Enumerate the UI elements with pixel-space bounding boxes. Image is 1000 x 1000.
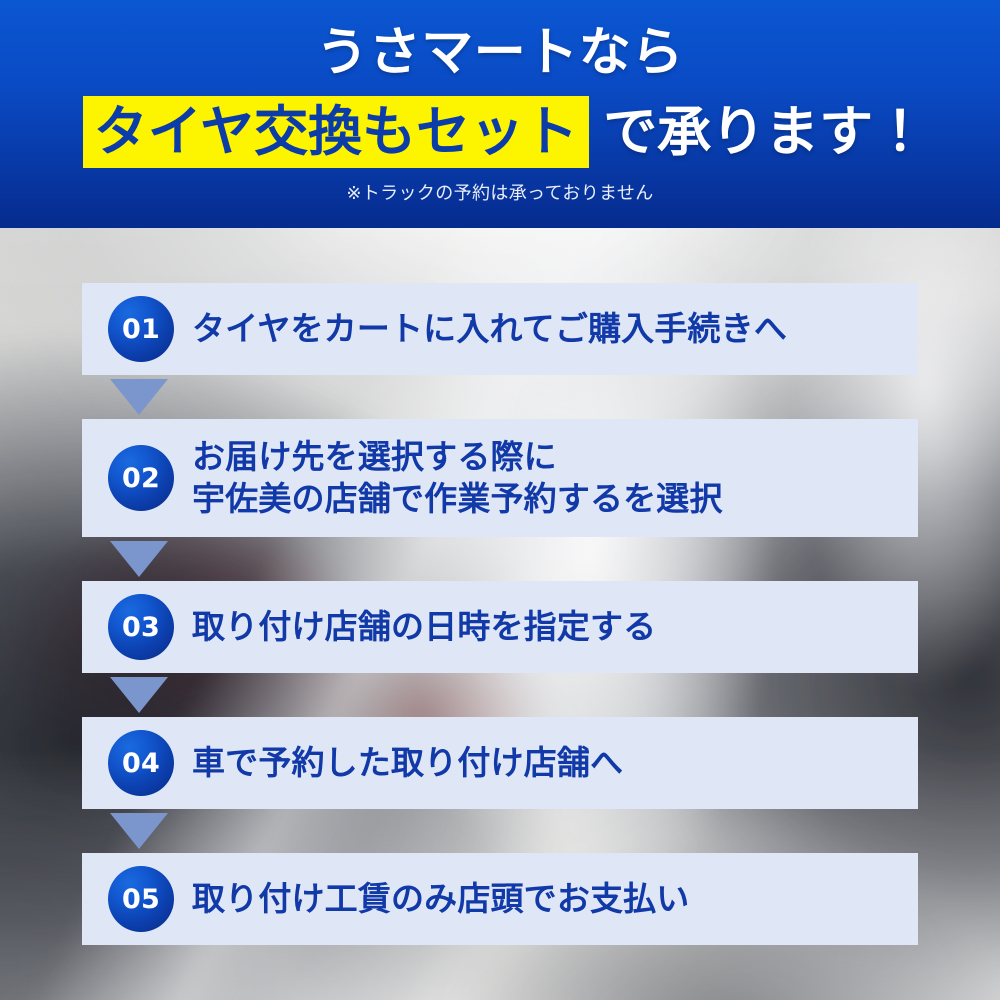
- step-number-badge: 01: [108, 296, 174, 362]
- step-card: 05取り付け工賃のみ店頭でお支払い: [82, 853, 918, 945]
- step-card: 03取り付け店舗の日時を指定する: [82, 581, 918, 673]
- step-connector-arrow: [82, 537, 918, 581]
- step-list: 01タイヤをカートに入れてご購入手続きへ02お届け先を選択する際に宇佐美の店舗で…: [82, 283, 918, 945]
- step-number-badge: 05: [108, 866, 174, 932]
- chevron-down-icon: [110, 379, 168, 415]
- headline-highlight-text: タイヤ交換もセット: [83, 96, 589, 168]
- step-connector-arrow: [82, 375, 918, 419]
- header-banner: うさマートなら タイヤ交換もセット で承ります！ ※トラックの予約は承っておりま…: [0, 0, 1000, 228]
- step-card: 02お届け先を選択する際に宇佐美の店舗で作業予約するを選択: [82, 419, 918, 537]
- step-label-line: 宇佐美の店舗で作業予約するを選択: [192, 478, 723, 520]
- header-disclaimer-note: ※トラックの予約は承っておりません: [0, 182, 1000, 206]
- headline-secondary: タイヤ交換もセット で承ります！: [0, 96, 1000, 168]
- chevron-down-icon: [110, 813, 168, 849]
- step-label: 取り付け工賃のみ店頭でお支払い: [192, 878, 709, 920]
- step-number-badge: 04: [108, 730, 174, 796]
- step-label: 車で予約した取り付け店舗へ: [192, 742, 643, 784]
- step-connector-arrow: [82, 809, 918, 853]
- step-label-line: タイヤをカートに入れてご購入手続きへ: [192, 308, 787, 350]
- step-label-line: 車で予約した取り付け店舗へ: [192, 742, 623, 784]
- step-label-line: お届け先を選択する際に: [192, 436, 723, 478]
- promo-banner: うさマートなら タイヤ交換もセット で承ります！ ※トラックの予約は承っておりま…: [0, 0, 1000, 1000]
- step-label-line: 取り付け店舗の日時を指定する: [192, 606, 656, 648]
- step-label: タイヤをカートに入れてご購入手続きへ: [192, 308, 807, 350]
- chevron-down-icon: [110, 541, 168, 577]
- headline-tail-text: で承ります！: [589, 96, 927, 168]
- step-number-badge: 02: [108, 445, 174, 511]
- step-label: お届け先を選択する際に宇佐美の店舗で作業予約するを選択: [192, 436, 743, 520]
- step-card: 01タイヤをカートに入れてご購入手続きへ: [82, 283, 918, 375]
- headline-primary: うさマートなら: [0, 22, 1000, 84]
- chevron-down-icon: [110, 677, 168, 713]
- step-card: 04車で予約した取り付け店舗へ: [82, 717, 918, 809]
- step-connector-arrow: [82, 673, 918, 717]
- step-number-badge: 03: [108, 594, 174, 660]
- step-label: 取り付け店舗の日時を指定する: [192, 606, 676, 648]
- step-label-line: 取り付け工賃のみ店頭でお支払い: [192, 878, 689, 920]
